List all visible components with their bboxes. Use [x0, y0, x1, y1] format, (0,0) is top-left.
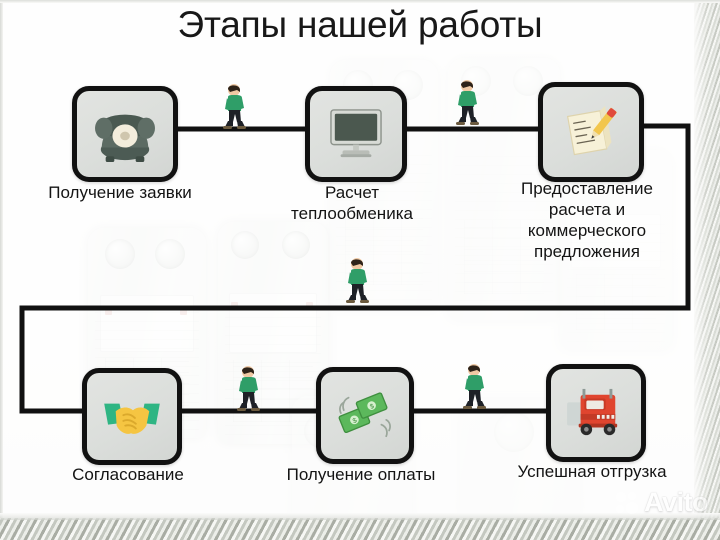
walking-person-5	[462, 364, 488, 415]
handshake-icon	[102, 394, 162, 440]
walking-person-2	[455, 80, 481, 131]
step-4-box[interactable]	[82, 368, 182, 465]
step-1-box[interactable]	[72, 86, 178, 182]
step-3-label: Предоставление расчета и коммерческого п…	[482, 178, 692, 262]
avito-logo-icon	[614, 490, 640, 516]
avito-watermark-text: Avito	[644, 487, 708, 518]
memo-pencil-icon	[561, 103, 621, 161]
delivery-truck-icon	[565, 387, 627, 439]
step-1-label: Получение заявки	[18, 182, 222, 203]
step-6-box[interactable]	[546, 364, 646, 462]
walking-person-4	[236, 366, 262, 417]
step-4-label: Согласование	[30, 464, 226, 485]
telephone-icon	[94, 105, 156, 163]
step-3-box[interactable]	[538, 82, 644, 182]
step-6-label: Успешная отгрузка	[488, 461, 696, 482]
step-5-label: Получение оплаты	[258, 464, 464, 485]
walking-person-1	[222, 84, 248, 135]
avito-watermark: Avito	[614, 487, 708, 518]
computer-monitor-icon	[327, 108, 385, 160]
photo-edge-stripe-bottom	[0, 518, 720, 540]
money-with-wings-icon: $ $	[336, 389, 394, 443]
walking-person-3	[345, 258, 371, 309]
step-5-box[interactable]: $ $	[316, 367, 414, 464]
infographic-canvas: Этапы нашей работы Получение заявки	[0, 0, 720, 540]
step-2-label: Расчет теплообменика	[256, 182, 448, 224]
step-2-box[interactable]	[305, 86, 407, 182]
